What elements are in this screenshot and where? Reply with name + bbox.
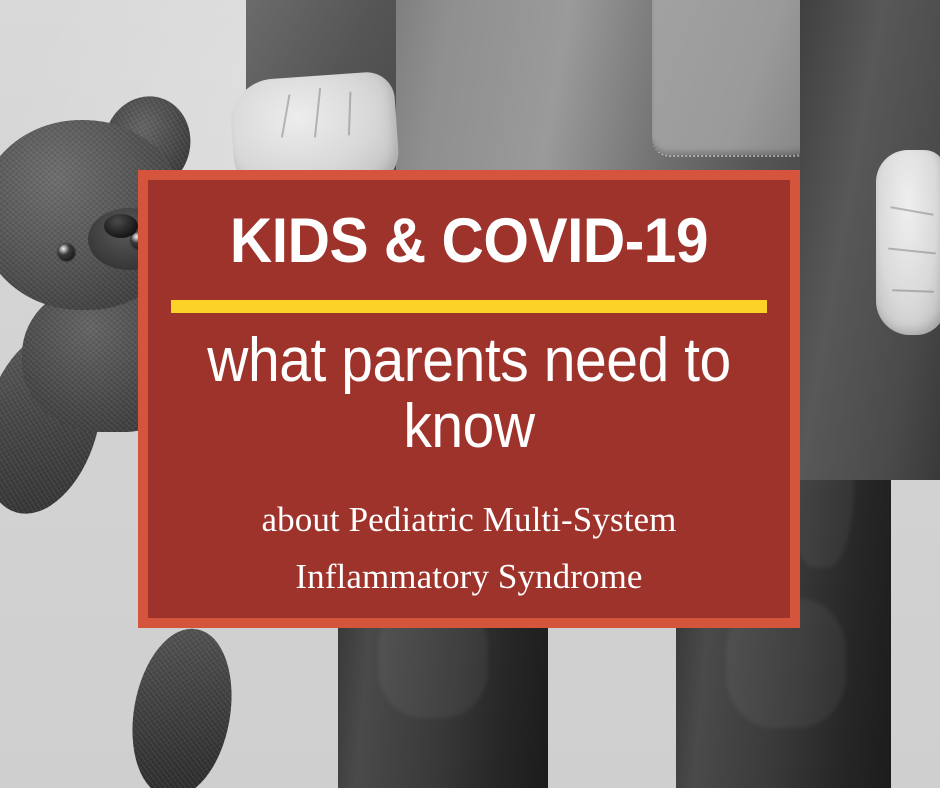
callout-box: KIDS & COVID-19 what parents need to kno… [138,170,800,628]
poster-subheadline: what parents need to know [174,328,765,461]
callout-box-inner: KIDS & COVID-19 what parents need to kno… [148,180,790,618]
poster-caption: about Pediatric Multi-System Inflammator… [148,492,790,605]
caption-line-2: Inflammatory Syndrome [148,549,790,606]
poster-headline: KIDS & COVID-19 [170,210,767,273]
yellow-divider-rule [171,300,767,313]
subheadline-line-1: what parents [207,326,528,395]
person-hand-right [876,150,940,335]
teddy-bear-eye-left [58,244,75,261]
poster-canvas: KIDS & COVID-19 what parents need to kno… [0,0,940,788]
caption-line-1: about Pediatric Multi-System [148,492,790,549]
